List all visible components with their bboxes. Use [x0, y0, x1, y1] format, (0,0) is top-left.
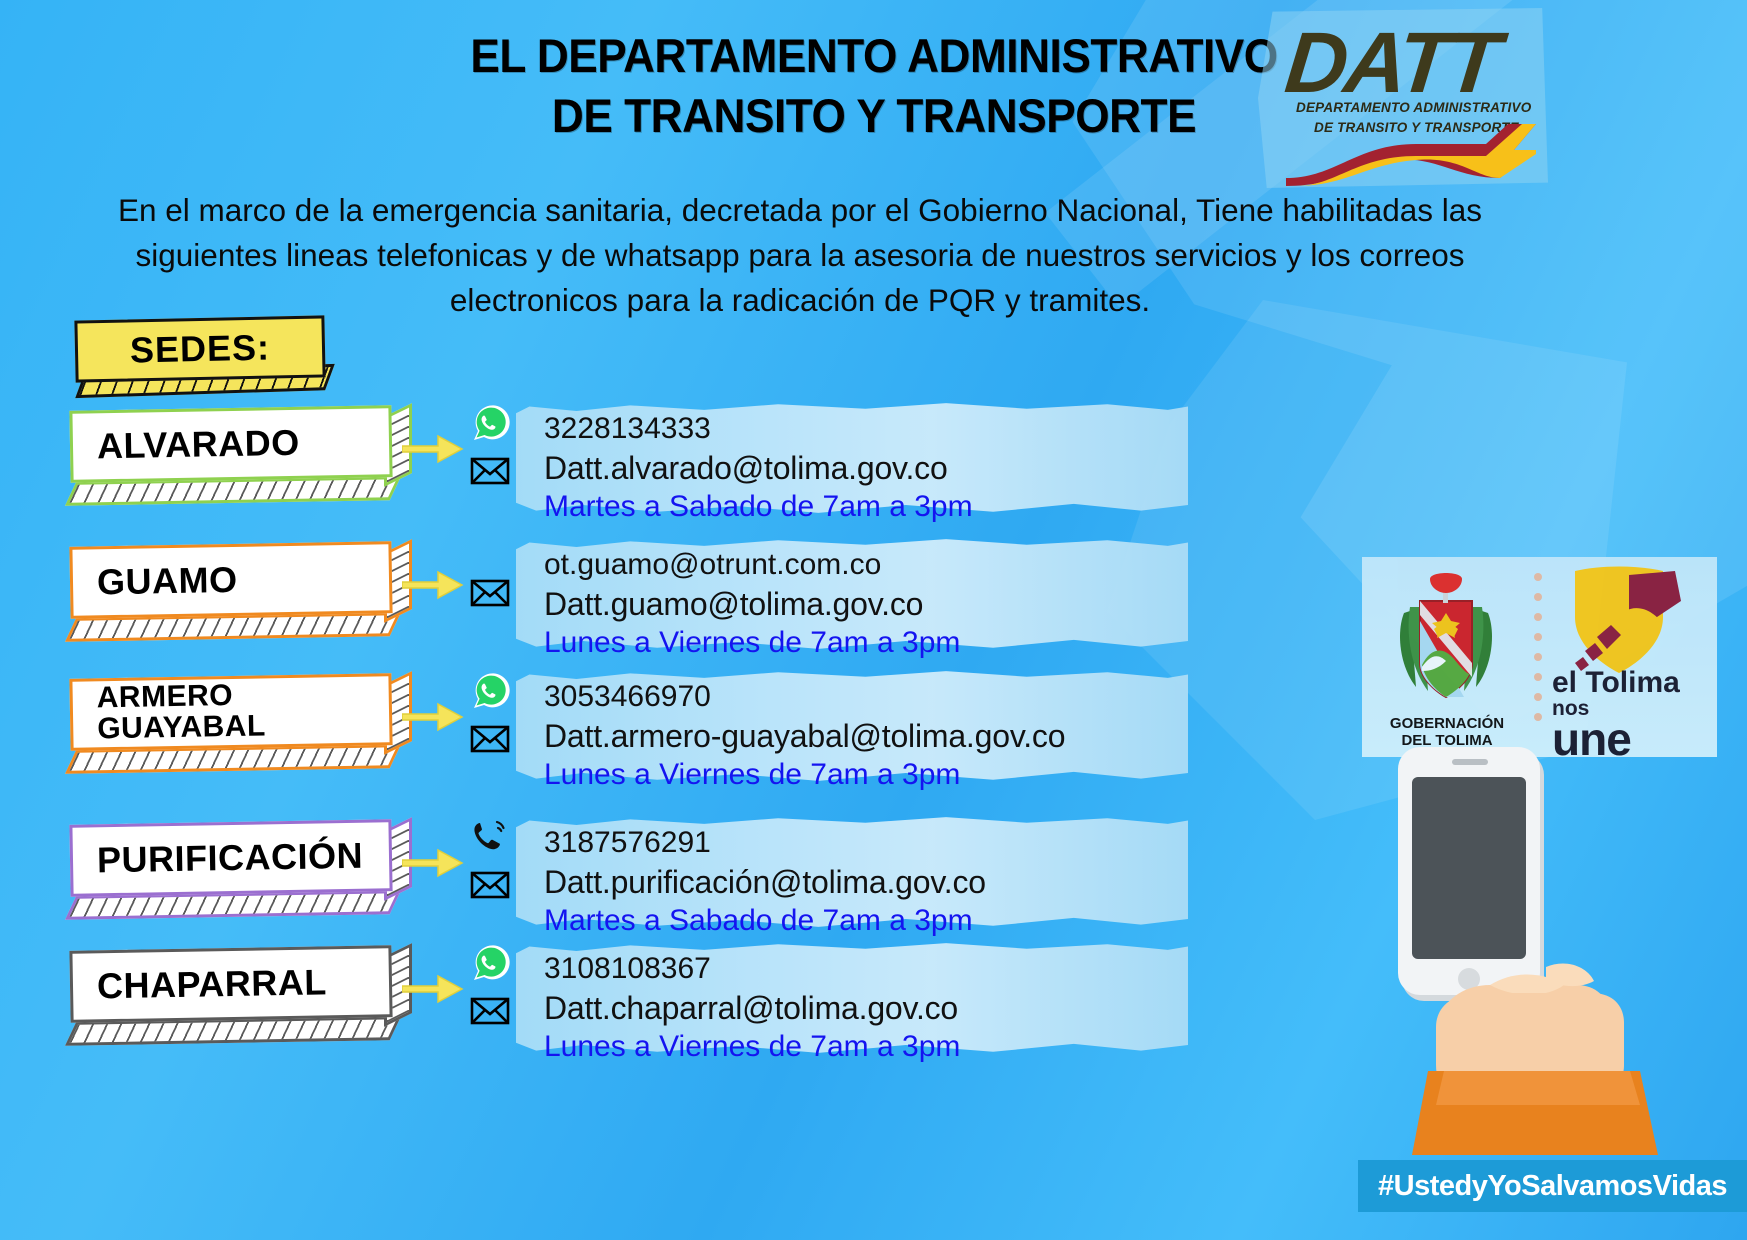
sede-phone[interactable]: 3053466970 — [544, 678, 1178, 716]
sede-hours: Martes a Sabado de 7am a 3pm — [544, 488, 1178, 526]
sede-name-card: CHAPARRAL — [70, 948, 392, 1020]
datt-swoosh-icon — [1286, 116, 1536, 186]
sede-card-face: ARMEROGUAYABAL — [69, 673, 392, 751]
whatsapp-icon[interactable] — [468, 402, 512, 446]
sede-arrow — [402, 432, 464, 466]
sede-phone[interactable]: ot.guamo@otrunt.com.co — [544, 546, 1178, 584]
sede-hours: Lunes a Viernes de 7am a 3pm — [544, 624, 1178, 662]
dotted-divider — [1534, 573, 1542, 723]
email-icon[interactable] — [468, 716, 512, 760]
sede-contact-strip: 3053466970 Datt.armero-guayabal@tolima.g… — [516, 670, 1188, 782]
sede-email[interactable]: Datt.armero-guayabal@tolima.gov.co — [544, 716, 1178, 756]
tolima-government-card: GOBERNACIÓN DEL TOLIMA el Tolima nos une — [1362, 557, 1717, 757]
sede-email[interactable]: Datt.purificación@tolima.gov.co — [544, 862, 1178, 902]
arrow-icon — [402, 568, 464, 602]
sede-contact-icons — [468, 670, 520, 780]
sede-contact-lines: 3108108367 Datt.chaparral@tolima.gov.co … — [544, 950, 1178, 1065]
sede-row: ALVARADO 3228134333 Datt.alvarado@tolima… — [0, 400, 1200, 520]
sede-hours: Lunes a Viernes de 7am a 3pm — [544, 1028, 1178, 1066]
phone-icon[interactable] — [468, 816, 512, 860]
sede-contact-lines: ot.guamo@otrunt.com.co Datt.guamo@tolima… — [544, 546, 1178, 661]
sede-name-card: GUAMO — [70, 544, 392, 616]
email-icon[interactable] — [468, 570, 512, 614]
sedes-badge-face: SEDES: — [74, 315, 325, 382]
sede-phone[interactable]: 3108108367 — [544, 950, 1178, 988]
sedes-label-text: SEDES: — [130, 327, 271, 372]
hashtag-banner: #UstedyYoSalvamosVidas — [1358, 1160, 1747, 1212]
intro-paragraph: En el marco de la emergencia sanitaria, … — [90, 188, 1510, 323]
gobernacion-line-1: GOBERNACIÓN — [1376, 715, 1518, 732]
email-icon[interactable] — [468, 862, 512, 906]
sede-card-face: CHAPARRAL — [69, 945, 392, 1023]
hashtag-text: #UstedyYoSalvamosVidas — [1378, 1170, 1727, 1203]
sede-contact-strip: 3108108367 Datt.chaparral@tolima.gov.co … — [516, 942, 1188, 1054]
sede-row: CHAPARRAL 3108108367 Datt.chaparral@toli… — [0, 940, 1200, 1060]
sede-contact-strip: ot.guamo@otrunt.com.co Datt.guamo@tolima… — [516, 538, 1188, 650]
sede-name-card: ALVARADO — [70, 408, 392, 480]
sede-row: GUAMO ot.guamo@otrunt.com.co Datt.guamo@… — [0, 536, 1200, 656]
sede-contact-icons — [468, 942, 520, 1052]
sede-contact-lines: 3187576291 Datt.purificación@tolima.gov.… — [544, 824, 1178, 939]
sede-contact-lines: 3228134333 Datt.alvarado@tolima.gov.co M… — [544, 410, 1178, 525]
whatsapp-icon[interactable] — [468, 942, 512, 986]
slogan-el: el — [1552, 666, 1577, 699]
datt-logo: DATT DEPARTAMENTO ADMINISTRATIVO DE TRAN… — [1258, 8, 1548, 188]
datt-subtitle-line-1: DEPARTAMENTO ADMINISTRATIVO — [1296, 100, 1531, 115]
arrow-icon — [402, 432, 464, 466]
sede-row: ARMEROGUAYABAL 3053466970 Datt.armero-gu… — [0, 668, 1200, 788]
sede-email[interactable]: Datt.guamo@tolima.gov.co — [544, 584, 1178, 624]
sede-name-card: PURIFICACIÓN — [70, 822, 392, 894]
arrow-icon — [402, 846, 464, 880]
handshake-shield-icon — [1567, 565, 1687, 675]
sede-card-face: PURIFICACIÓN — [69, 819, 392, 897]
sede-phone[interactable]: 3228134333 — [544, 410, 1178, 448]
arrow-icon — [402, 972, 464, 1006]
tolima-coat-of-arms-icon — [1386, 571, 1506, 711]
sede-contact-icons — [468, 538, 520, 648]
sede-email[interactable]: Datt.chaparral@tolima.gov.co — [544, 988, 1178, 1028]
email-icon[interactable] — [468, 988, 512, 1032]
sede-card-face: GUAMO — [69, 541, 392, 619]
sede-arrow — [402, 700, 464, 734]
sede-name: GUAMO — [97, 562, 238, 601]
arrow-icon — [402, 700, 464, 734]
slogan-tolima: Tolima — [1585, 666, 1679, 699]
sede-arrow — [402, 846, 464, 880]
sede-contact-strip: 3187576291 Datt.purificación@tolima.gov.… — [516, 816, 1188, 928]
sede-name: CHAPARRAL — [97, 964, 327, 1005]
sede-name-card: ARMEROGUAYABAL — [70, 676, 392, 748]
sede-phone[interactable]: 3187576291 — [544, 824, 1178, 862]
sede-contact-strip: 3228134333 Datt.alvarado@tolima.gov.co M… — [516, 402, 1188, 514]
sede-arrow — [402, 568, 464, 602]
sede-hours: Lunes a Viernes de 7am a 3pm — [544, 756, 1178, 794]
sede-name: PURIFICACIÓN — [97, 837, 364, 878]
sede-name: ALVARADO — [97, 424, 300, 464]
sede-email[interactable]: Datt.alvarado@tolima.gov.co — [544, 448, 1178, 488]
email-icon[interactable] — [468, 448, 512, 492]
sede-card-face: ALVARADO — [69, 405, 392, 483]
sede-contact-icons — [468, 816, 520, 926]
hand-holding-phone-illustration — [1340, 735, 1747, 1155]
sede-row: PURIFICACIÓN 3187576291 Datt.purificació… — [0, 814, 1200, 934]
sede-contact-icons — [468, 402, 520, 512]
sede-contact-lines: 3053466970 Datt.armero-guayabal@tolima.g… — [544, 678, 1178, 793]
sedes-label-badge: SEDES: — [75, 318, 325, 380]
sede-name: ARMEROGUAYABAL — [96, 681, 266, 745]
datt-wordmark: DATT — [1281, 14, 1502, 113]
sede-hours: Martes a Sabado de 7am a 3pm — [544, 902, 1178, 940]
whatsapp-icon[interactable] — [468, 670, 512, 714]
sede-arrow — [402, 972, 464, 1006]
